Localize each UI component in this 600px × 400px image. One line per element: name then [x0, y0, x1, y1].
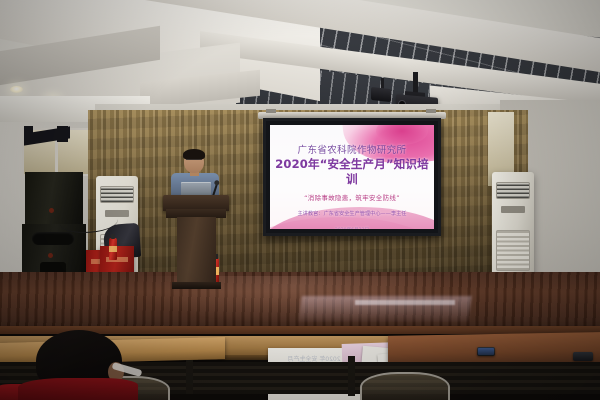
screen-reflection-highlight: [355, 300, 455, 305]
speaker-badge-icon: [49, 208, 54, 213]
stage-light-icon: [371, 87, 391, 102]
slide-line-slogan: “消除事故隐患，筑牢安全防线”: [270, 194, 434, 203]
laptop-icon: [181, 182, 211, 196]
desk-leg-left: [186, 360, 193, 394]
speaker-badge-icon: [48, 253, 53, 258]
desk-leg-center: [348, 356, 355, 396]
projection-screen-frame: 广东省农科院作物研究所 2020年“安全生产月”知识培训 “消除事故隐患，筑牢安…: [263, 118, 441, 236]
smartphone-left: [477, 347, 495, 356]
smartphone-right: [573, 352, 593, 361]
photo-scene: 广东省农科院作物研究所 2020年“安全生产月”知识培训 “消除事故隐患，筑牢安…: [0, 0, 600, 400]
slide-line-org: 广东省农科院作物研究所: [270, 145, 434, 157]
slide-line-title: 2020年“安全生产月”知识培训: [270, 157, 434, 187]
projection-screen: 广东省农科院作物研究所 2020年“安全生产月”知识培训 “消除事故隐患，筑牢安…: [270, 125, 434, 229]
fire-extinguisher-left: [109, 238, 117, 260]
ac-panel: [501, 206, 525, 213]
podium-base: [172, 282, 221, 289]
slide-line-date: 2020年6月23日: [270, 227, 434, 229]
attendee-red-shirt: [18, 378, 138, 400]
slide-line-presenter: 主讲教官：广东省安全生产管理中心——李主任: [270, 210, 434, 218]
eyeglasses-icon: [186, 159, 202, 164]
downlight-icon: [10, 86, 23, 93]
ac-grille-icon: [496, 230, 530, 271]
phone-screen: [478, 348, 494, 355]
ac-vent-icon: [100, 186, 134, 203]
chair-back-right: [360, 372, 450, 400]
podium-body: [177, 217, 216, 287]
ac-vent-icon: [496, 182, 530, 199]
extinguisher-label: [109, 246, 117, 252]
slide-text-block: 广东省农科院作物研究所 2020年“安全生产月”知识培训 “消除事故隐患，筑牢安…: [270, 145, 434, 229]
speaker-port-icon: [32, 232, 74, 245]
